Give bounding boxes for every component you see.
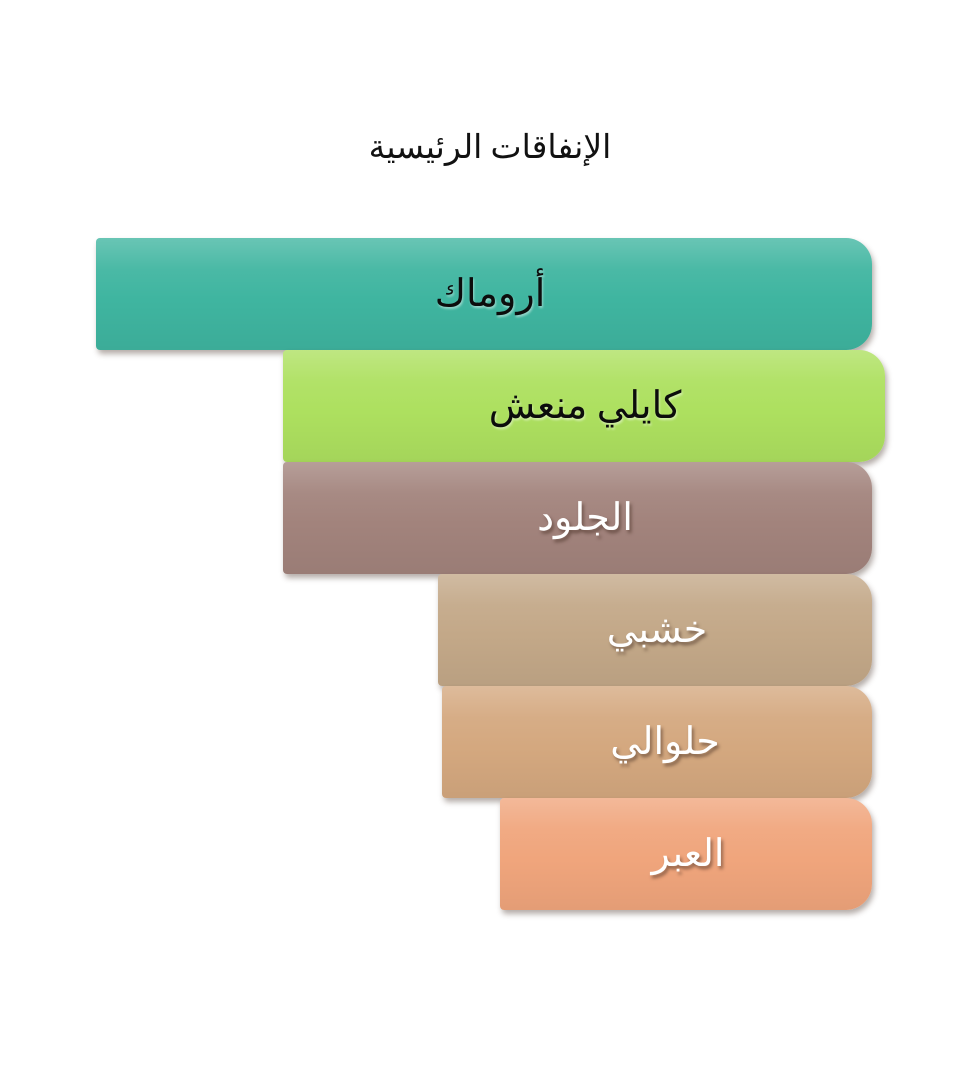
bar-fill bbox=[500, 798, 872, 910]
bar-3[interactable] bbox=[283, 462, 872, 574]
bar-fill bbox=[283, 462, 872, 574]
bar-fill bbox=[438, 574, 872, 686]
bar-4[interactable] bbox=[438, 574, 872, 686]
chart-title: الإنفاقات الرئيسية bbox=[0, 126, 980, 170]
bar-chart: الإنفاقات الرئيسية أروماككايلي منعشالجلو… bbox=[0, 0, 980, 1080]
bar-fill bbox=[442, 686, 872, 798]
bar-fill bbox=[283, 350, 885, 462]
bar-fill bbox=[96, 238, 872, 350]
bar-2[interactable] bbox=[283, 350, 885, 462]
bar-1[interactable] bbox=[96, 238, 872, 350]
bar-5[interactable] bbox=[442, 686, 872, 798]
bar-6[interactable] bbox=[500, 798, 872, 910]
